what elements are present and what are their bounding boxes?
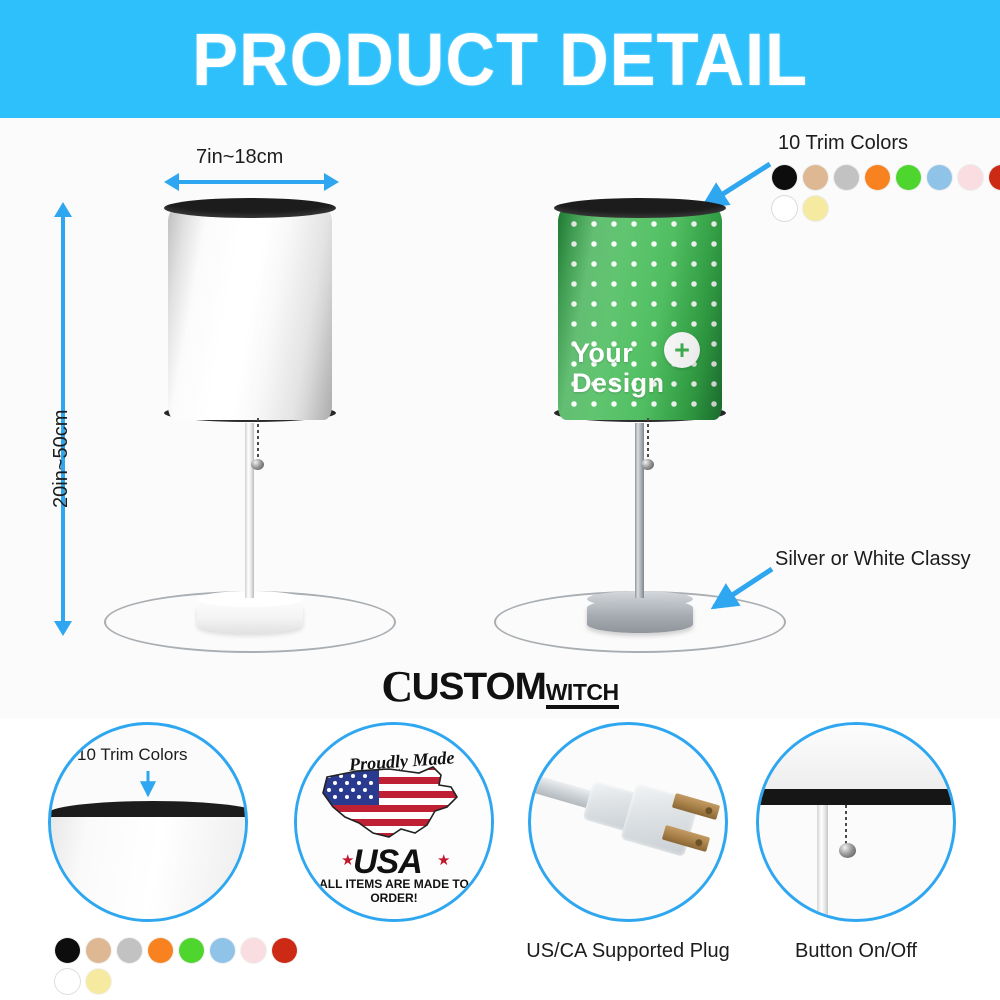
lamp-white-pole	[245, 423, 254, 598]
swatch-green[interactable]	[896, 165, 921, 190]
height-dimension-label: 20in~50cm	[50, 410, 73, 508]
swatch-bottom-white[interactable]	[55, 969, 80, 994]
swatch-bottom-black[interactable]	[55, 938, 80, 963]
trim-colors-swatches-top	[772, 165, 1000, 221]
swatch-bottom-gray[interactable]	[117, 938, 142, 963]
feature-switch-circle	[756, 722, 956, 922]
trim-colors-label-top: 10 Trim Colors	[778, 132, 908, 155]
header-banner: PRODUCT DETAIL	[0, 0, 1000, 118]
switch-pull-chain[interactable]	[845, 805, 847, 847]
lamp-white-chain-ball[interactable]	[251, 459, 264, 470]
lamp-green-chain-ball[interactable]	[641, 459, 654, 470]
usa-badge-line-bottom: ALL ITEMS ARE MADE TO ORDER!	[297, 877, 491, 905]
design-line-1: Your	[572, 338, 633, 368]
brand-logo-mark: C	[381, 665, 413, 709]
swatch-red[interactable]	[989, 165, 1000, 190]
width-arrow-head-right	[324, 173, 339, 191]
shade-body-closeup	[48, 817, 248, 922]
usa-flag-map-icon	[315, 763, 471, 849]
feature-switch-caption: Button On/Off	[736, 940, 976, 963]
swatch-bottom-yellow[interactable]	[86, 969, 111, 994]
swatch-bottom-green[interactable]	[179, 938, 204, 963]
your-design-text: Your Design	[572, 338, 664, 398]
lamp-green-pole	[635, 423, 644, 598]
swatch-bottom-pink[interactable]	[241, 938, 266, 963]
lamp-white-shade	[168, 208, 332, 420]
swatch-bottom-tan[interactable]	[86, 938, 111, 963]
lamp-white-pull-chain[interactable]	[257, 418, 259, 462]
brand-name-primary: USTOM	[412, 668, 546, 706]
feature-trim-colors-label: 10 Trim Colors	[77, 745, 188, 765]
base-finish-pointer-arrow	[700, 563, 780, 623]
swatch-tan[interactable]	[803, 165, 828, 190]
width-arrow-line	[178, 180, 324, 184]
switch-chain-ball[interactable]	[839, 843, 856, 858]
add-design-plus-badge[interactable]: +	[664, 332, 700, 368]
swatch-yellow[interactable]	[803, 196, 828, 221]
feature-plug-caption: US/CA Supported Plug	[508, 940, 748, 963]
swatch-orange[interactable]	[865, 165, 890, 190]
feature-made-in-usa-circle: Proudly Made in the	[294, 722, 494, 922]
lamp-white-shade-gloss	[168, 208, 332, 420]
width-dimension-label: 7in~18cm	[196, 146, 283, 169]
feature-trim-colors-circle: 10 Trim Colors	[48, 722, 248, 922]
trim-colors-swatches-bottom	[55, 938, 315, 994]
feature-plug-circle	[528, 722, 728, 922]
base-finish-callout-label: Silver or White Classy	[775, 548, 971, 571]
usa-badge: Proudly Made in the	[297, 725, 491, 919]
main-product-stage: 10 Trim Colors 7in~18cm	[0, 118, 1000, 718]
lamp-green-pull-chain[interactable]	[647, 418, 649, 462]
height-arrow-head-bottom	[54, 621, 72, 636]
switch-shade-above	[756, 725, 956, 791]
lamp-green-top-trim	[554, 198, 726, 218]
lamp-white-top-trim	[164, 198, 336, 218]
height-arrow-head-top	[54, 202, 72, 217]
width-arrow-head-left	[164, 173, 179, 191]
product-detail-infographic: PRODUCT DETAIL 10 Trim Colors	[0, 0, 1000, 1000]
page-title: PRODUCT DETAIL	[192, 17, 808, 102]
swatch-bottom-red[interactable]	[272, 938, 297, 963]
brand-name-secondary: WITCH	[546, 680, 619, 709]
usa-star-right-icon: ★	[437, 851, 450, 869]
swatch-bottom-orange[interactable]	[148, 938, 173, 963]
switch-pole	[817, 805, 828, 922]
swatch-gray[interactable]	[834, 165, 859, 190]
swatch-light-blue[interactable]	[927, 165, 952, 190]
lamp-green-shade: Your Design +	[558, 208, 722, 420]
design-line-2: Design	[572, 368, 664, 398]
swatch-pink[interactable]	[958, 165, 983, 190]
switch-trim-band	[756, 789, 956, 805]
brand-logo: C USTOM WITCH	[0, 665, 1000, 709]
trim-colors-down-arrow-icon	[137, 769, 159, 805]
swatch-bottom-light-blue[interactable]	[210, 938, 235, 963]
